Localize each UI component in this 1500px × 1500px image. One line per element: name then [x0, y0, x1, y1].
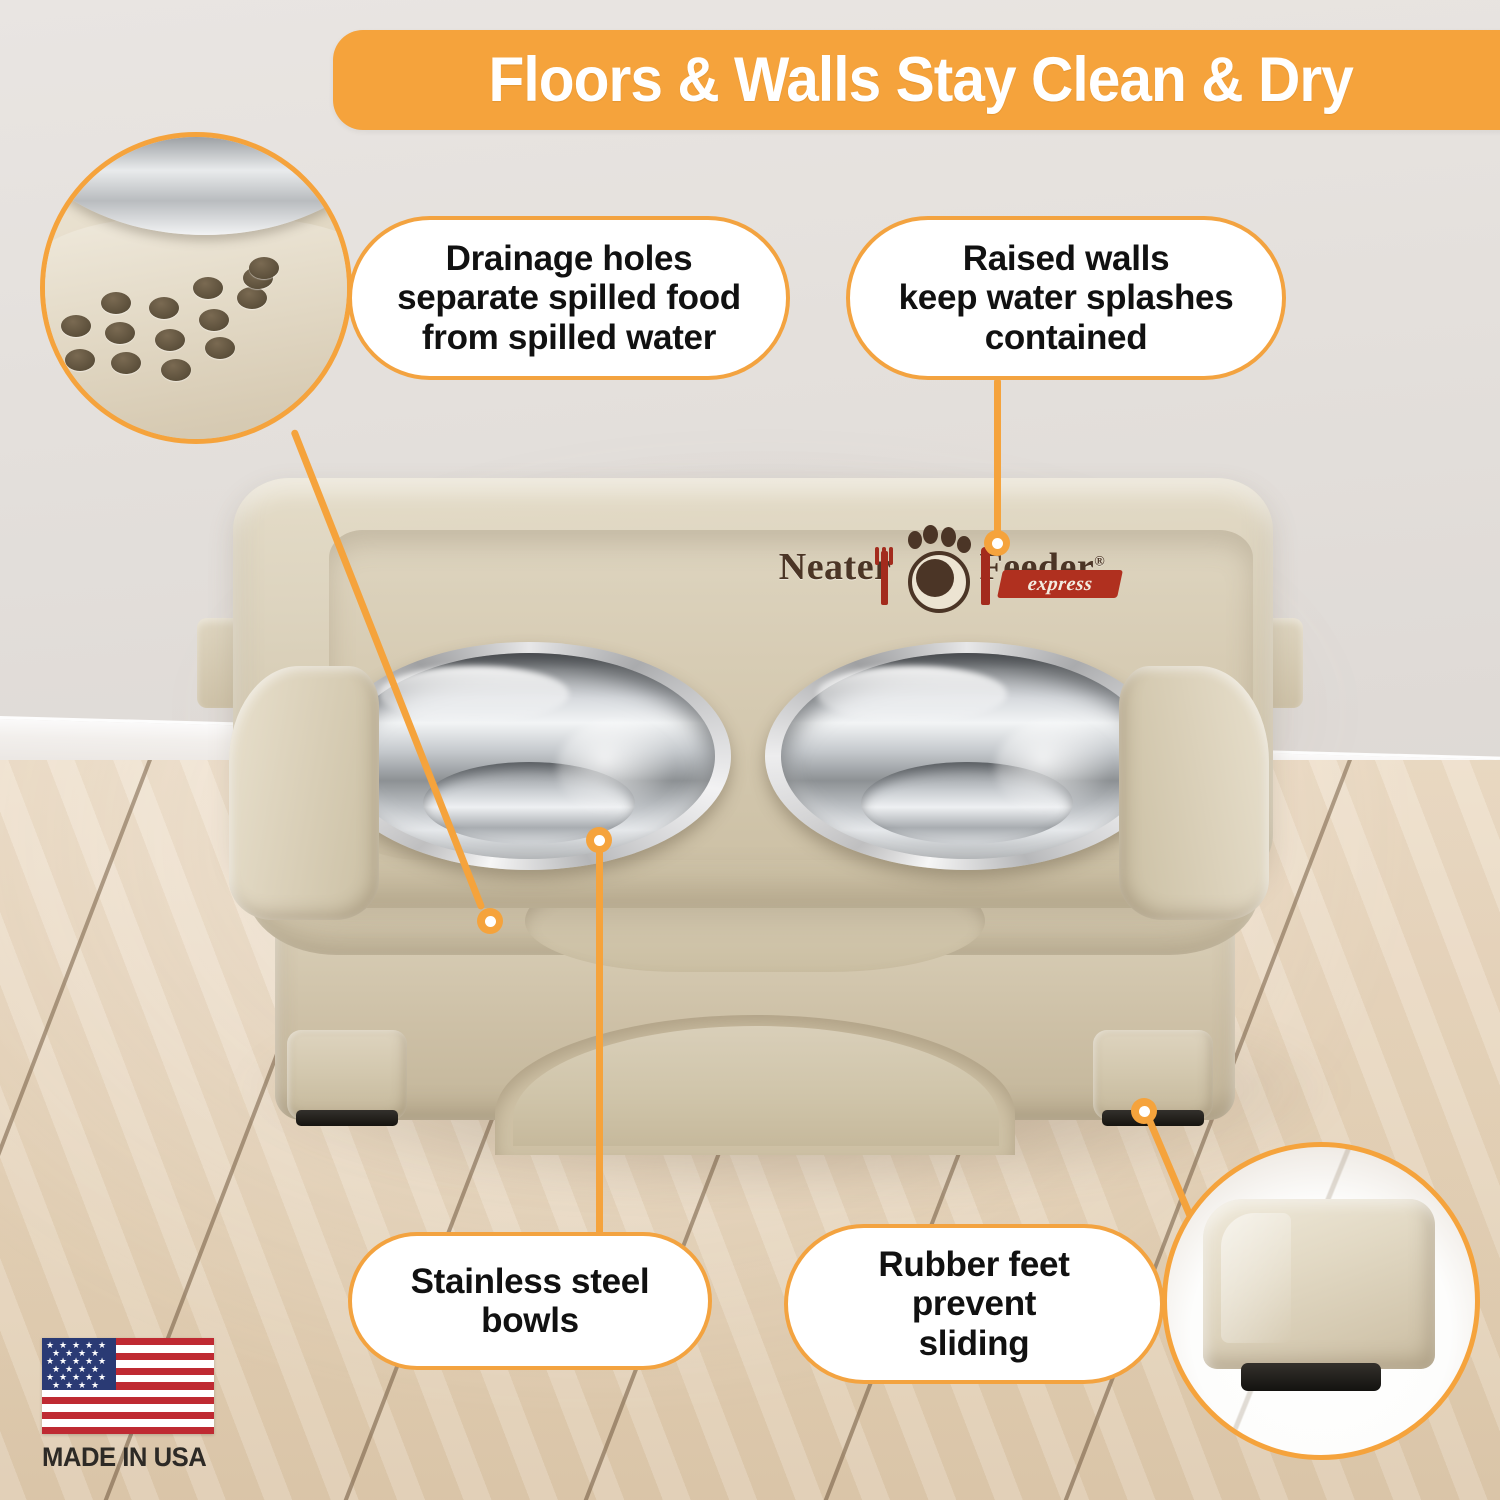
paw-toe: [941, 527, 956, 547]
knife-icon: [981, 547, 990, 605]
sub-brand-express: express: [997, 570, 1123, 598]
callout-raised-walls: Raised walls keep water splashes contain…: [846, 216, 1286, 380]
drainage-hole: [149, 297, 179, 319]
paw-toe: [923, 525, 938, 544]
drainage-hole: [161, 359, 191, 381]
flag-stripe: [42, 1397, 214, 1404]
registered-mark: ®: [1094, 554, 1105, 569]
feeder-arm-right: [1119, 666, 1269, 920]
inset-bowl-rim: [40, 132, 352, 235]
flag-stripe: [42, 1412, 214, 1419]
infographic-canvas: Neater Feeder® express: [0, 0, 1500, 1500]
sub-brand-text: express: [1026, 573, 1093, 596]
drainage-hole: [199, 309, 229, 331]
brand-logo: Neater Feeder® express: [742, 522, 1142, 612]
stainless-bowl-right: [765, 642, 1169, 870]
leader-dot-bowls: [586, 827, 612, 853]
us-flag-icon: ★★★★★ ★★★★ ★★★★★ ★★★★ ★★★★★ ★★★★: [42, 1338, 214, 1434]
drainage-hole: [155, 329, 185, 351]
drainage-hole: [249, 257, 279, 279]
leader-line-raised: [994, 378, 1001, 546]
flag-canton: ★★★★★ ★★★★ ★★★★★ ★★★★ ★★★★★ ★★★★: [42, 1338, 116, 1390]
header-banner: Floors & Walls Stay Clean & Dry: [333, 30, 1500, 130]
callout-stainless-bowls: Stainless steel bowls: [348, 1232, 712, 1370]
leader-dot-raised: [984, 530, 1010, 556]
feeder-arm-left: [229, 666, 379, 920]
drainage-hole: [193, 277, 223, 299]
rubber-foot-left: [296, 1110, 398, 1126]
inset-rubber-foot-closeup: [1162, 1142, 1480, 1460]
drainage-hole: [205, 337, 235, 359]
bowl-highlight: [817, 666, 1007, 722]
rubber-foot-pad: [1241, 1363, 1381, 1391]
fork-tine: [882, 547, 886, 565]
inset-drainage-closeup: [40, 132, 352, 444]
fork-tine: [889, 547, 893, 565]
callout-bowls-text: Stainless steel bowls: [411, 1262, 650, 1340]
flag-stripe: [42, 1427, 214, 1434]
drainage-hole: [237, 287, 267, 309]
bowl-highlight-secondary: [557, 720, 677, 816]
callout-drainage-holes: Drainage holes separate spilled food fro…: [348, 216, 790, 380]
leader-line-bowls: [596, 846, 603, 1238]
callout-rubber-text: Rubber feet prevent sliding: [878, 1245, 1069, 1363]
paw-plate-icon: [897, 525, 973, 609]
drainage-hole: [101, 292, 131, 314]
leader-dot-rubber: [1131, 1098, 1157, 1124]
made-in-usa-label: MADE IN USA: [42, 1442, 232, 1473]
paw-toe: [908, 531, 922, 549]
foot-corner-body: [1203, 1199, 1435, 1369]
drainage-hole: [111, 352, 141, 374]
drainage-hole: [65, 349, 95, 371]
callout-raised-text: Raised walls keep water splashes contain…: [899, 239, 1234, 357]
banner-title: Floors & Walls Stay Clean & Dry: [488, 44, 1352, 116]
callout-rubber-feet: Rubber feet prevent sliding: [784, 1224, 1164, 1384]
callout-drainage-text: Drainage holes separate spilled food fro…: [397, 239, 741, 357]
paw-toe: [957, 536, 971, 553]
made-in-usa-badge: ★★★★★ ★★★★ ★★★★★ ★★★★ ★★★★★ ★★★★ MADE IN…: [42, 1338, 242, 1478]
bowl-highlight-secondary: [995, 720, 1115, 816]
neater-feeder-product: Neater Feeder® express: [195, 470, 1305, 1135]
drainage-hole: [105, 322, 135, 344]
fork-tine: [875, 547, 879, 565]
leader-dot-drainage: [477, 908, 503, 934]
drainage-hole: [61, 315, 91, 337]
feeder-leg-left: [287, 1030, 407, 1120]
